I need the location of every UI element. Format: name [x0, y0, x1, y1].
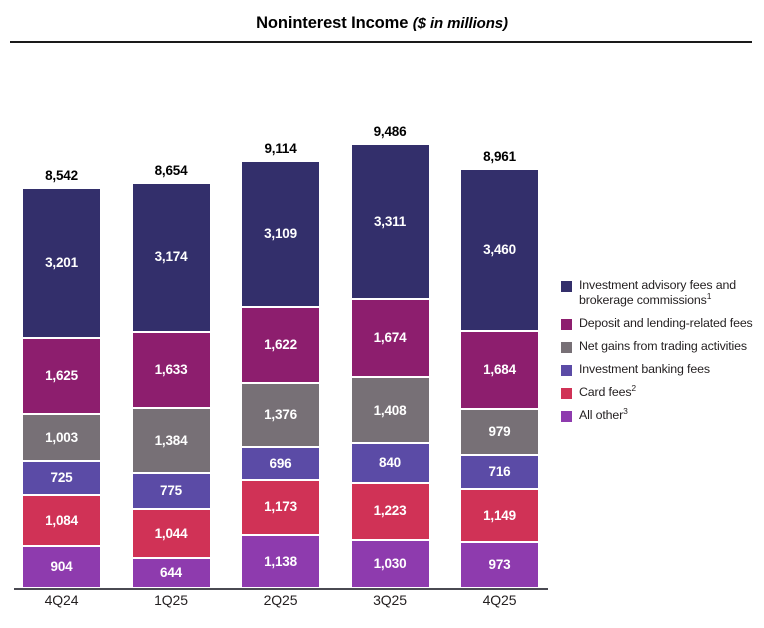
- bar-segment[interactable]: 979: [461, 409, 538, 455]
- bar-group-1q25[interactable]: 8,6543,1741,6331,3847751,044644: [133, 157, 210, 588]
- bar-segment[interactable]: 1,138: [242, 535, 319, 588]
- bar-total-label: 8,654: [133, 163, 210, 178]
- bar-total-label: 8,961: [461, 149, 538, 164]
- bar-stack: 3,3111,6741,4088401,2231,030: [352, 144, 429, 588]
- legend-item[interactable]: Investment banking fees: [561, 362, 764, 377]
- bar-segment[interactable]: 1,674: [352, 299, 429, 377]
- bar-total-label: 9,486: [352, 124, 429, 139]
- bar-segment[interactable]: 1,684: [461, 331, 538, 410]
- bar-segment-label: 1,223: [374, 504, 407, 518]
- legend-swatch-icon: [561, 342, 572, 353]
- bar-segment[interactable]: 1,376: [242, 383, 319, 447]
- bar-segment[interactable]: 775: [133, 473, 210, 509]
- bar-stack: 3,1091,6221,3766961,1731,138: [242, 161, 319, 588]
- bar-group-3q25[interactable]: 9,4863,3111,6741,4088401,2231,030: [352, 118, 429, 588]
- legend-label: Net gains from trading activities: [579, 339, 747, 354]
- x-axis-label-4q25: 4Q25: [461, 592, 538, 608]
- bar-segment-label: 1,138: [264, 555, 297, 569]
- bar-segment[interactable]: 1,044: [133, 509, 210, 558]
- bar-segment-label: 1,384: [155, 434, 188, 448]
- bar-segment[interactable]: 3,311: [352, 144, 429, 299]
- bar-segment-label: 1,625: [45, 369, 78, 383]
- x-axis-line: [14, 588, 548, 590]
- legend-item[interactable]: Investment advisory fees and brokerage c…: [561, 278, 764, 308]
- bar-segment-label: 3,460: [483, 243, 516, 257]
- bar-total-label: 9,114: [242, 141, 319, 156]
- bar-segment[interactable]: 1,223: [352, 483, 429, 540]
- bar-segment-label: 1,674: [374, 331, 407, 345]
- bar-segment-label: 1,408: [374, 404, 407, 418]
- noninterest-income-chart: Noninterest Income ($ in millions) 8,542…: [0, 0, 764, 628]
- bar-segment-label: 696: [270, 457, 292, 471]
- bar-segment[interactable]: 1,149: [461, 489, 538, 543]
- legend-label: Card fees2: [579, 385, 636, 400]
- bar-stack: 3,4601,6849797161,149973: [461, 169, 538, 588]
- bar-segment[interactable]: 716: [461, 455, 538, 489]
- legend-footnote-marker: 1: [707, 291, 712, 301]
- legend-footnote-marker: 3: [623, 406, 628, 416]
- bar-segment[interactable]: 840: [352, 443, 429, 482]
- plot-area: 8,5423,2011,6251,0037251,0849048,6543,17…: [0, 52, 560, 592]
- x-axis-label-2q25: 2Q25: [242, 592, 319, 608]
- bar-segment-label: 1,044: [155, 527, 188, 541]
- bar-stack: 3,1741,6331,3847751,044644: [133, 183, 210, 588]
- legend-label: Investment advisory fees and brokerage c…: [579, 278, 764, 308]
- bar-segment-label: 1,149: [483, 509, 516, 523]
- x-axis-label-3q25: 3Q25: [352, 592, 429, 608]
- bar-segment[interactable]: 904: [23, 546, 100, 588]
- bar-group-2q25[interactable]: 9,1143,1091,6221,3766961,1731,138: [242, 135, 319, 588]
- legend-item[interactable]: Card fees2: [561, 385, 764, 400]
- bar-segment[interactable]: 1,408: [352, 377, 429, 443]
- legend-label: Investment banking fees: [579, 362, 710, 377]
- bar-segment-label: 840: [379, 456, 401, 470]
- legend-swatch-icon: [561, 365, 572, 376]
- bar-segment[interactable]: 3,109: [242, 161, 319, 307]
- bar-segment-label: 904: [51, 560, 73, 574]
- bar-segment[interactable]: 3,460: [461, 169, 538, 331]
- bar-segment-label: 3,311: [374, 215, 406, 229]
- bar-group-4q24[interactable]: 8,5423,2011,6251,0037251,084904: [23, 162, 100, 588]
- chart-title: Noninterest Income ($ in millions): [0, 14, 764, 33]
- bar-total-label: 8,542: [23, 168, 100, 183]
- bar-segment[interactable]: 1,003: [23, 414, 100, 461]
- bar-segment-label: 3,109: [264, 227, 297, 241]
- x-axis-label-1q25: 1Q25: [133, 592, 210, 608]
- legend-item[interactable]: Deposit and lending-related fees: [561, 316, 764, 331]
- bar-segment-label: 1,376: [264, 408, 297, 422]
- bar-segment[interactable]: 696: [242, 447, 319, 480]
- bar-segment-label: 973: [489, 558, 511, 572]
- bar-group-4q25[interactable]: 8,9613,4601,6849797161,149973: [461, 143, 538, 588]
- bar-segment-label: 1,684: [483, 363, 516, 377]
- bar-segment-label: 1,030: [374, 557, 407, 571]
- bar-segment[interactable]: 973: [461, 542, 538, 588]
- legend-swatch-icon: [561, 388, 572, 399]
- bar-segment-label: 716: [489, 465, 511, 479]
- legend-item[interactable]: All other3: [561, 408, 764, 423]
- bar-segment[interactable]: 1,084: [23, 495, 100, 546]
- bar-segment[interactable]: 1,384: [133, 408, 210, 473]
- bar-segment-label: 979: [489, 425, 511, 439]
- bar-segment-label: 725: [51, 471, 73, 485]
- legend-label: All other3: [579, 408, 628, 423]
- bar-segment[interactable]: 1,030: [352, 540, 429, 588]
- bar-segment-label: 775: [160, 484, 182, 498]
- bar-segment-label: 3,201: [45, 256, 78, 270]
- bar-segment[interactable]: 644: [133, 558, 210, 588]
- chart-title-main: Noninterest Income: [256, 14, 408, 32]
- chart-legend: Investment advisory fees and brokerage c…: [561, 278, 764, 431]
- chart-title-units: ($ in millions): [413, 15, 508, 32]
- bar-segment[interactable]: 725: [23, 461, 100, 495]
- bar-segment-label: 3,174: [155, 250, 188, 264]
- bar-segment[interactable]: 1,633: [133, 332, 210, 408]
- bar-segment-label: 1,003: [45, 431, 78, 445]
- bar-segment[interactable]: 1,622: [242, 307, 319, 383]
- x-axis-label-4q24: 4Q24: [23, 592, 100, 608]
- bar-stack: 3,2011,6251,0037251,084904: [23, 188, 100, 588]
- bar-segment-label: 1,173: [264, 500, 297, 514]
- title-divider: [10, 41, 752, 43]
- legend-swatch-icon: [561, 281, 572, 292]
- bar-segment[interactable]: 3,201: [23, 188, 100, 338]
- bar-segment[interactable]: 1,173: [242, 480, 319, 535]
- legend-item[interactable]: Net gains from trading activities: [561, 339, 764, 354]
- legend-swatch-icon: [561, 411, 572, 422]
- bar-segment-label: 644: [160, 566, 182, 580]
- legend-label: Deposit and lending-related fees: [579, 316, 753, 331]
- bar-segment-label: 1,084: [45, 514, 78, 528]
- legend-swatch-icon: [561, 319, 572, 330]
- x-axis-labels: 4Q241Q252Q253Q254Q25: [0, 592, 560, 620]
- legend-footnote-marker: 2: [631, 383, 636, 393]
- bar-segment-label: 1,622: [264, 338, 297, 352]
- bar-segment[interactable]: 1,625: [23, 338, 100, 414]
- bar-segment[interactable]: 3,174: [133, 183, 210, 332]
- bar-segment-label: 1,633: [155, 363, 188, 377]
